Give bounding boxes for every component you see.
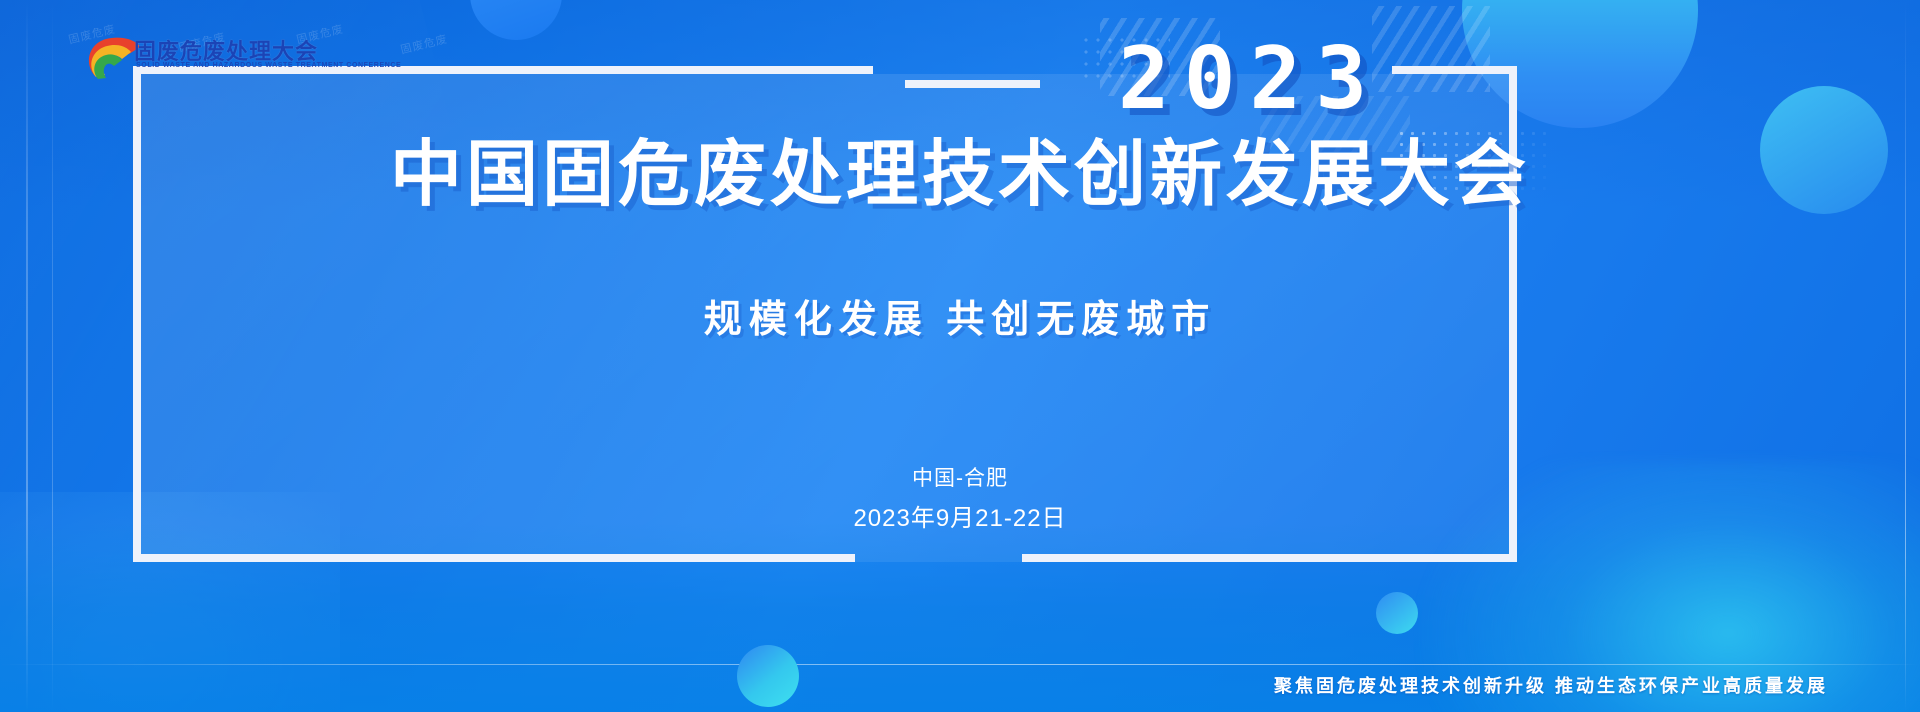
decorative-circle-bottom-center bbox=[737, 645, 799, 707]
frame-border-bottom-right bbox=[1022, 554, 1517, 562]
bottom-tagline: 聚焦固危废处理技术创新升级 推动生态环保产业高质量发展 bbox=[1274, 672, 1828, 698]
frame-border-top-right bbox=[1392, 66, 1517, 74]
conference-banner: 固废危废 固废危废 固废危废 固废危废 固废危废处理大会 SOLID WASTE… bbox=[0, 0, 1920, 712]
frame-accent-dash bbox=[905, 80, 1040, 88]
left-accent-line-inner bbox=[52, 0, 53, 712]
logo-name-en: SOLID WASTE AND HAZARDOUS WASTE TREATMEN… bbox=[136, 62, 401, 69]
year-2023: 2023 bbox=[1118, 36, 1381, 122]
page-title: 中国固危废处理技术创新发展大会 bbox=[0, 138, 1920, 214]
frame-border-bottom-left bbox=[133, 554, 855, 562]
right-accent-line bbox=[1905, 0, 1906, 712]
left-accent-line-outer bbox=[26, 0, 28, 712]
decorative-circle-bottom-right bbox=[1376, 592, 1418, 634]
page-subtitle: 规模化发展 共创无废城市 bbox=[0, 288, 1920, 343]
conference-logo: 固废危废处理大会 SOLID WASTE AND HAZARDOUS WASTE… bbox=[82, 30, 317, 82]
venue-text: 中国-合肥 bbox=[0, 462, 1920, 492]
date-text: 2023年9月21-22日 bbox=[0, 498, 1920, 533]
bottom-hairline bbox=[0, 664, 1920, 665]
